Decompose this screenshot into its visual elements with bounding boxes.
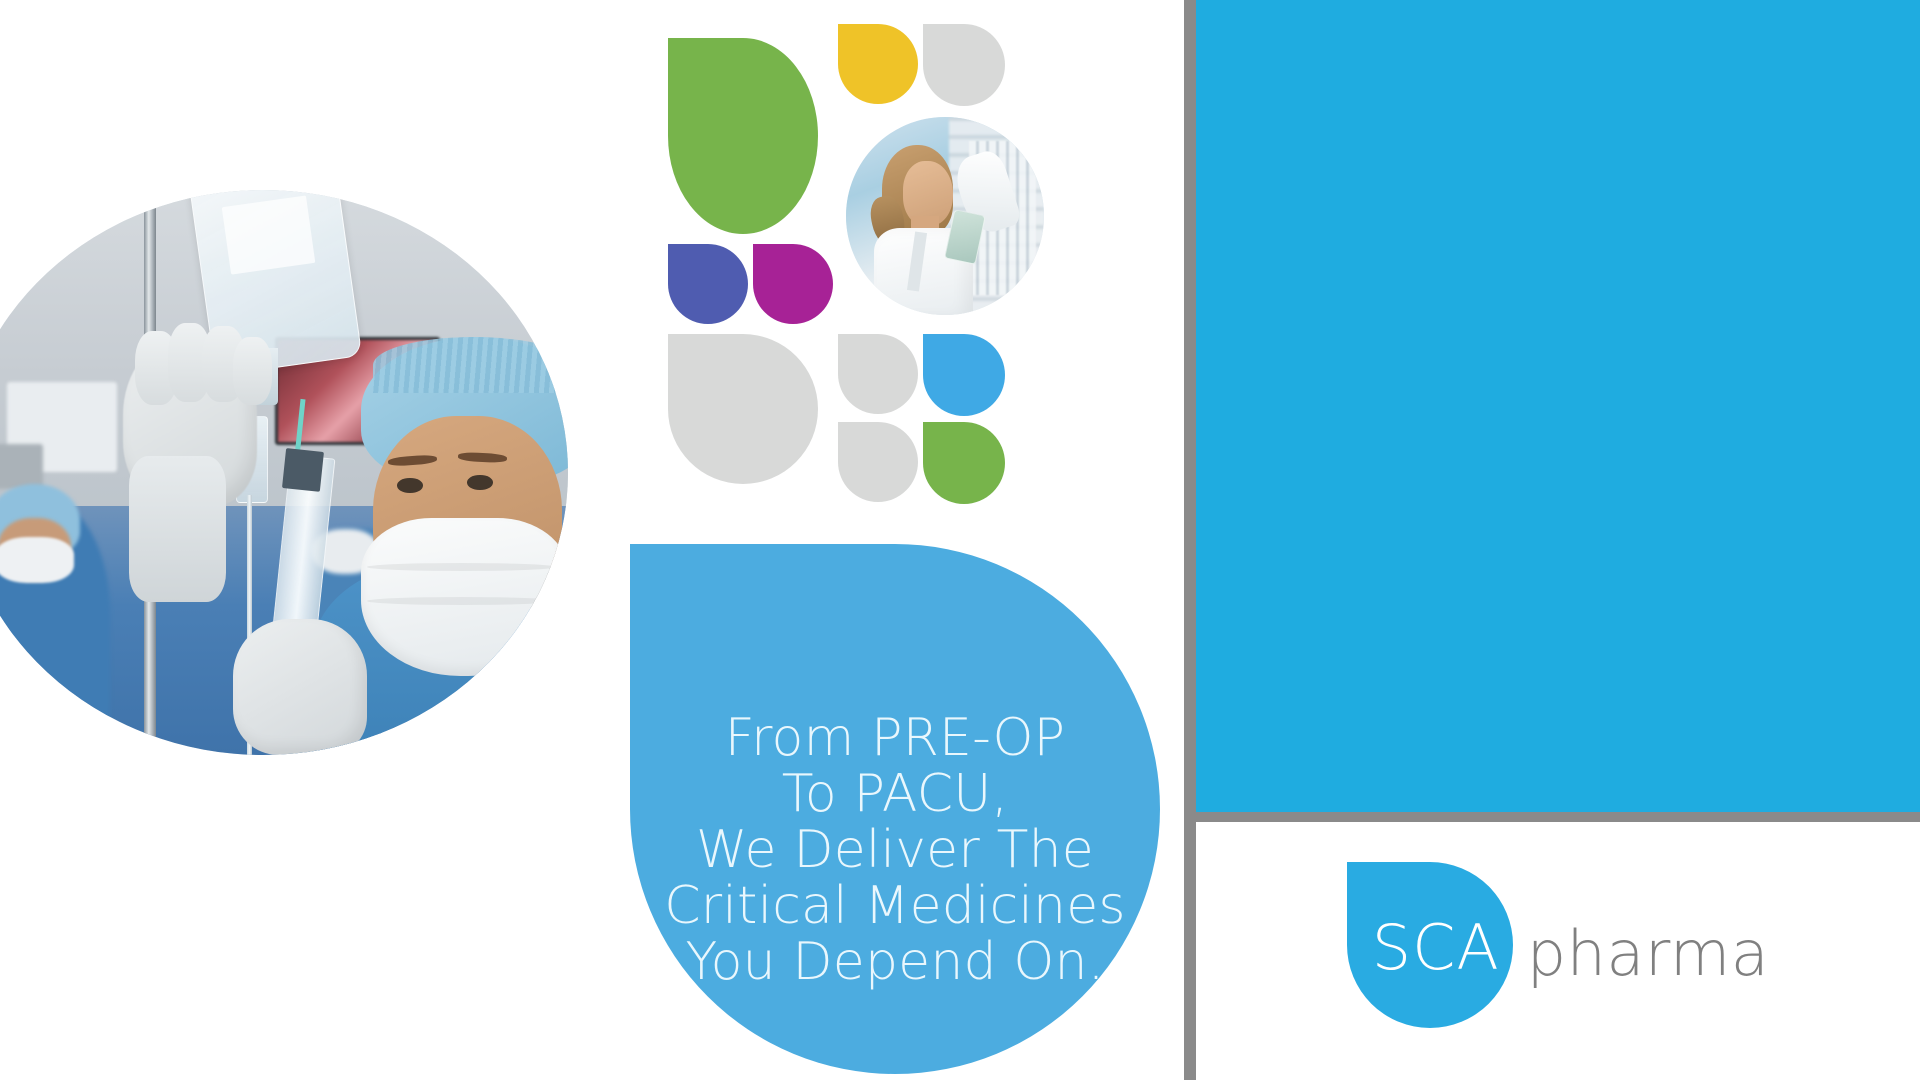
headline-circle: From PRE-OP To PACU, We Deliver The Crit…: [630, 544, 1160, 1074]
pharmacist-photo: [846, 117, 1044, 315]
body-copy-panel: It’s been an unprecedented time in healt…: [1196, 0, 1920, 812]
marketing-banner: From PRE-OP To PACU, We Deliver The Crit…: [0, 0, 1920, 1080]
d-shape-green-large: [668, 38, 818, 234]
d-shape-gray-mid: [838, 334, 918, 414]
d-shape-gray-top: [923, 24, 1005, 106]
d-shape-indigo: [668, 244, 748, 324]
d-shape-sky: [923, 334, 1005, 416]
pharma-wordmark: pharma: [1527, 917, 1769, 990]
d-shape-yellow: [838, 24, 918, 104]
d-shape-magenta: [753, 244, 833, 324]
vertical-divider: [1184, 0, 1196, 1080]
nurse-iv-photo: [0, 190, 568, 755]
brand-logo-panel: SCA pharma: [1196, 822, 1920, 1080]
sca-logo-text: SCA: [1372, 911, 1500, 984]
d-shape-gray-lower: [838, 422, 918, 502]
d-shape-gray-large: [668, 334, 818, 484]
sca-logo-mark: SCA: [1347, 862, 1513, 1028]
d-shape-green-small: [923, 422, 1005, 504]
horizontal-divider: [1196, 812, 1920, 822]
headline-text: From PRE-OP To PACU, We Deliver The Crit…: [664, 628, 1125, 991]
